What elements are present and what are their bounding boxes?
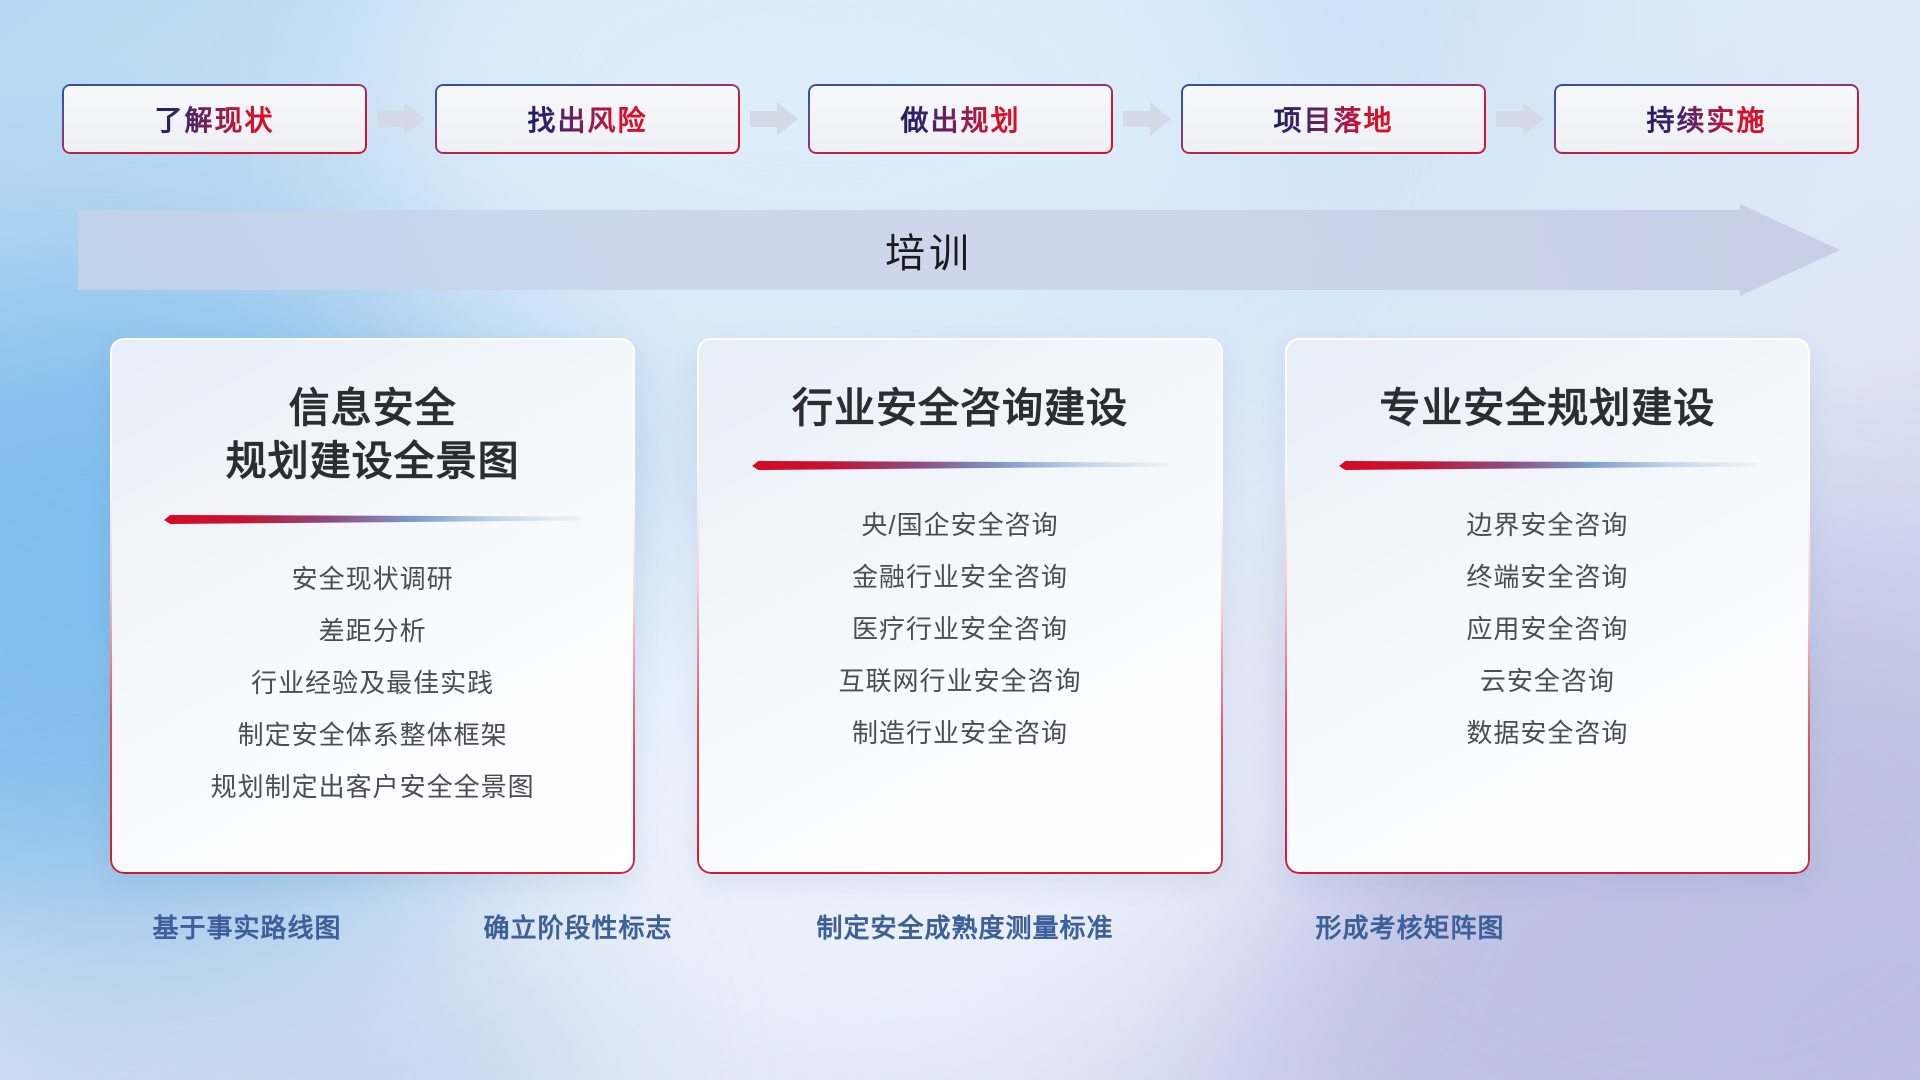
step-box-4[interactable]: 项目落地 xyxy=(1181,84,1486,154)
feature-card-3[interactable]: 专业安全规划建设边界安全咨询终端安全咨询应用安全咨询云安全咨询数据安全咨询 xyxy=(1285,338,1810,874)
arrow-right-icon xyxy=(750,102,798,136)
step-connector-arrow-3 xyxy=(1113,102,1181,136)
footnote-row: 基于事实路线图确立阶段性标志制定安全成熟度测量标准形成考核矩阵图 xyxy=(0,908,1920,960)
gradient-wedge-divider xyxy=(164,511,581,527)
arrow-right-icon xyxy=(377,102,425,136)
slide-canvas: 了解现状找出风险做出规划项目落地持续实施 培训 信息安全 规划建设全景图安全现状… xyxy=(0,0,1920,1080)
arrow-right-icon xyxy=(1496,102,1544,136)
footnote-label-2: 确立阶段性标志 xyxy=(483,908,672,945)
list-item[interactable]: 互联网行业安全咨询 xyxy=(723,655,1196,707)
footnote-label-3: 制定安全成熟度测量标准 xyxy=(816,908,1113,945)
card-row: 信息安全 规划建设全景图安全现状调研差距分析行业经验及最佳实践制定安全体系整体框… xyxy=(110,338,1810,874)
list-item[interactable]: 行业经验及最佳实践 xyxy=(136,657,609,709)
feature-card-1[interactable]: 信息安全 规划建设全景图安全现状调研差距分析行业经验及最佳实践制定安全体系整体框… xyxy=(110,338,635,874)
list-item[interactable]: 数据安全咨询 xyxy=(1311,707,1784,759)
card-divider-1 xyxy=(164,511,581,527)
feature-card-2[interactable]: 行业安全咨询建设央/国企安全咨询金融行业安全咨询医疗行业安全咨询互联网行业安全咨… xyxy=(697,338,1222,874)
card-title-1: 信息安全 规划建设全景图 xyxy=(136,382,609,489)
gradient-wedge-divider xyxy=(752,457,1169,473)
list-item[interactable]: 制定安全体系整体框架 xyxy=(136,709,609,761)
step-connector-arrow-4 xyxy=(1486,102,1554,136)
list-item[interactable]: 差距分析 xyxy=(136,605,609,657)
step-label-2: 找出风险 xyxy=(527,99,647,139)
step-box-3[interactable]: 做出规划 xyxy=(808,84,1113,154)
step-label-3: 做出规划 xyxy=(900,99,1020,139)
step-connector-arrow-2 xyxy=(740,102,808,136)
card-item-list-1: 安全现状调研差距分析行业经验及最佳实践制定安全体系整体框架规划制定出客户安全全景… xyxy=(136,553,609,813)
list-item[interactable]: 规划制定出客户安全全景图 xyxy=(136,761,609,813)
list-item[interactable]: 边界安全咨询 xyxy=(1311,499,1784,551)
list-item[interactable]: 安全现状调研 xyxy=(136,553,609,605)
card-divider-2 xyxy=(752,457,1169,473)
list-item[interactable]: 金融行业安全咨询 xyxy=(723,551,1196,603)
list-item[interactable]: 应用安全咨询 xyxy=(1311,603,1784,655)
list-item[interactable]: 医疗行业安全咨询 xyxy=(723,603,1196,655)
gradient-wedge-divider xyxy=(1339,457,1756,473)
step-box-2[interactable]: 找出风险 xyxy=(435,84,740,154)
step-label-5: 持续实施 xyxy=(1646,99,1766,139)
card-item-list-2: 央/国企安全咨询金融行业安全咨询医疗行业安全咨询互联网行业安全咨询制造行业安全咨… xyxy=(723,499,1196,759)
card-item-list-3: 边界安全咨询终端安全咨询应用安全咨询云安全咨询数据安全咨询 xyxy=(1311,499,1784,759)
card-title-3: 专业安全规划建设 xyxy=(1311,382,1784,435)
step-box-1[interactable]: 了解现状 xyxy=(62,84,367,154)
step-label-1: 了解现状 xyxy=(154,99,274,139)
list-item[interactable]: 央/国企安全咨询 xyxy=(723,499,1196,551)
footnote-label-4: 形成考核矩阵图 xyxy=(1315,908,1504,945)
step-box-5[interactable]: 持续实施 xyxy=(1554,84,1859,154)
card-divider-3 xyxy=(1339,457,1756,473)
step-label-4: 项目落地 xyxy=(1273,99,1393,139)
list-item[interactable]: 云安全咨询 xyxy=(1311,655,1784,707)
card-title-2: 行业安全咨询建设 xyxy=(723,382,1196,435)
band-label: 培训 xyxy=(78,204,1840,296)
process-step-row: 了解现状找出风险做出规划项目落地持续实施 xyxy=(62,78,1858,160)
list-item[interactable]: 制造行业安全咨询 xyxy=(723,707,1196,759)
step-connector-arrow-1 xyxy=(367,102,435,136)
footnote-label-1: 基于事实路线图 xyxy=(152,908,341,945)
arrow-right-icon xyxy=(1123,102,1171,136)
list-item[interactable]: 终端安全咨询 xyxy=(1311,551,1784,603)
training-band: 培训 xyxy=(78,204,1840,296)
